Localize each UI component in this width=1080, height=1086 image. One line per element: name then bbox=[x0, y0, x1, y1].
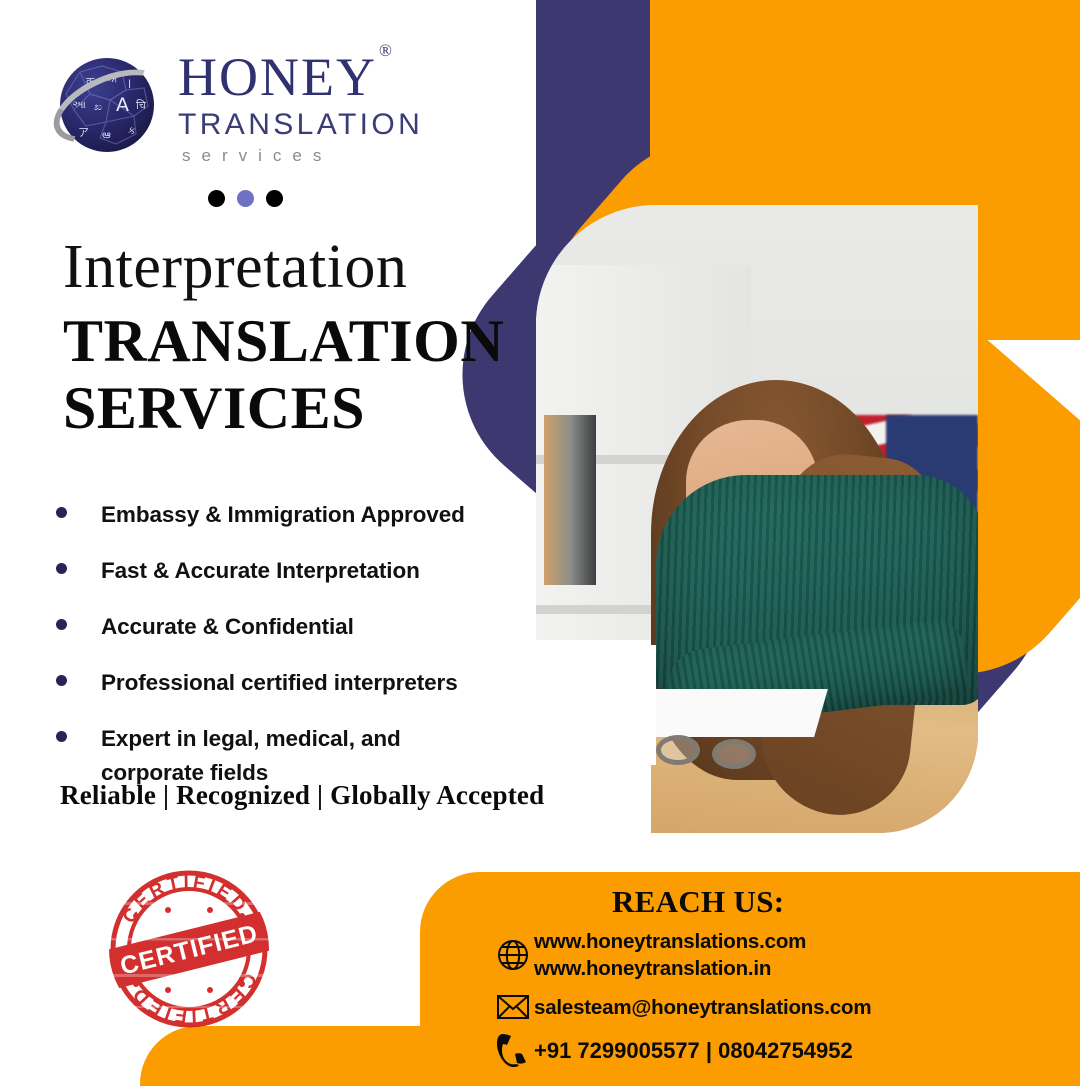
tagline: Reliable | Recognized | Globally Accepte… bbox=[60, 780, 544, 811]
brand-logo[interactable]: क ਅ ا આ ಖ A चि ア ఆ ક HONEY® bbox=[52, 48, 423, 164]
envelope-icon bbox=[492, 993, 534, 1021]
email-address[interactable]: salesteam@honeytranslations.com bbox=[534, 994, 871, 1021]
logo-line-translation: TRANSLATION bbox=[178, 110, 423, 140]
list-item: Professional certified interpreters bbox=[56, 666, 526, 701]
globe-languages-icon: क ਅ ا આ ಖ A चि ア ఆ ક bbox=[52, 50, 164, 162]
bullet-dot-icon bbox=[56, 619, 67, 630]
website-line-1[interactable]: www.honeytranslations.com bbox=[534, 930, 806, 953]
decor-dots bbox=[208, 190, 283, 207]
feature-label: Embassy & Immigration Approved bbox=[101, 498, 465, 533]
bullet-dot-icon bbox=[56, 507, 67, 518]
list-item: Embassy & Immigration Approved bbox=[56, 498, 526, 533]
list-item: Accurate & Confidential bbox=[56, 610, 526, 645]
photo-books bbox=[544, 415, 596, 585]
photo-paper bbox=[639, 689, 828, 737]
bullet-dot-icon bbox=[56, 675, 67, 686]
photo-glasses bbox=[656, 735, 786, 773]
headline-script-line: Interpretation bbox=[63, 236, 504, 298]
bullet-dot-icon bbox=[56, 731, 67, 742]
dot-1 bbox=[208, 190, 225, 207]
contact-row-email[interactable]: salesteam@honeytranslations.com bbox=[492, 993, 1052, 1021]
list-item: Fast & Accurate Interpretation bbox=[56, 554, 526, 589]
contact-list: www.honeytranslations.com www.honeytrans… bbox=[492, 928, 1052, 1079]
dot-2 bbox=[237, 190, 254, 207]
contact-row-website[interactable]: www.honeytranslations.com www.honeytrans… bbox=[492, 928, 1052, 982]
certified-stamp-icon: CERTIFIED CERTIFIED CERTIFIED bbox=[106, 866, 272, 1032]
feature-label: Fast & Accurate Interpretation bbox=[101, 554, 420, 589]
feature-label: Accurate & Confidential bbox=[101, 610, 354, 645]
feature-list: Embassy & Immigration Approved Fast & Ac… bbox=[56, 498, 526, 812]
website-line-2[interactable]: www.honeytranslation.in bbox=[534, 957, 771, 980]
phone-icon bbox=[492, 1032, 534, 1068]
registered-mark-icon: ® bbox=[379, 41, 394, 60]
headline-main-line-1: TRANSLATION bbox=[63, 308, 504, 375]
svg-text:CERTIFIED: CERTIFIED bbox=[117, 919, 261, 980]
logo-line-services: services bbox=[182, 147, 423, 164]
bullet-dot-icon bbox=[56, 563, 67, 574]
headline-main-line-2: SERVICES bbox=[63, 375, 504, 442]
feature-label: Professional certified interpreters bbox=[101, 666, 458, 701]
phone-numbers[interactable]: +91 7299005577 | 08042754952 bbox=[534, 1036, 853, 1065]
contact-heading: REACH US: bbox=[612, 884, 784, 920]
page-title: Interpretation TRANSLATION SERVICES bbox=[63, 236, 504, 442]
contact-row-phone[interactable]: +91 7299005577 | 08042754952 bbox=[492, 1032, 1052, 1068]
globe-icon bbox=[492, 938, 534, 972]
logo-name: HONEY bbox=[178, 47, 377, 107]
dot-3 bbox=[266, 190, 283, 207]
